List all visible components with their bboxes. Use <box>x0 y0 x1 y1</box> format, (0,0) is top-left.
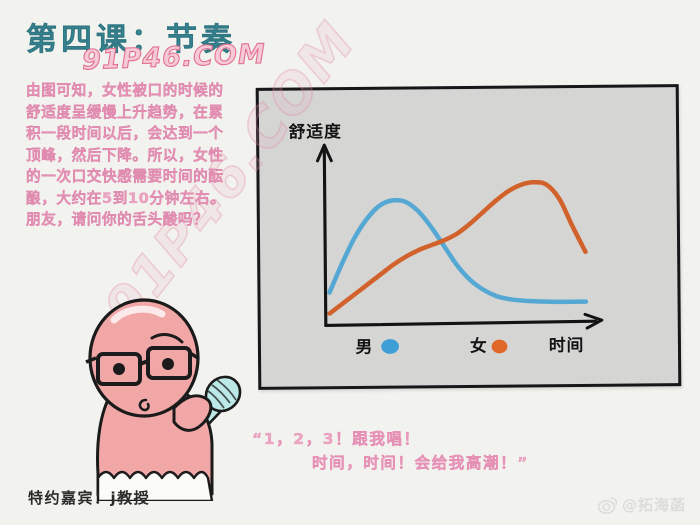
legend-dot-male <box>381 339 399 354</box>
legend-label-male: 男 <box>356 337 373 357</box>
y-axis <box>317 145 332 325</box>
character-eye-right <box>162 358 174 370</box>
quote-line-1: “1，2，3！跟我唱！ <box>252 427 529 451</box>
watermark-url-top: 91P46.COM <box>82 39 267 76</box>
body-paragraph: 由图可知，女性被口的时候的舒适度呈缓慢上升趋势，在累积一段时间以后，会达到一个顶… <box>26 80 226 231</box>
legend-label-female: 女 <box>470 336 487 356</box>
comfort-vs-time-line-chart: 舒适度 男 女 时间 <box>259 87 679 387</box>
weibo-watermark: @拓海菡 <box>598 494 686 515</box>
weibo-logo-icon <box>598 496 618 514</box>
professor-j-cartoon <box>62 296 277 501</box>
chart-legend: 男 女 <box>356 335 508 356</box>
series-line-male <box>329 198 586 303</box>
series-line-female <box>329 182 586 314</box>
character-eye-left <box>113 363 125 375</box>
guest-caption: 特约嘉宾：j教授 <box>28 487 150 508</box>
quote-block: “1，2，3！跟我唱！ 时间，时间！会给我高潮！” <box>252 427 529 475</box>
comic-page: 第四课：节奏 91P46.COM 由图可知，女性被口的时候的舒适度呈缓慢上升趋势… <box>0 0 700 525</box>
x-axis-label: 时间 <box>549 335 585 355</box>
character-head <box>90 300 198 416</box>
chart-board: 舒适度 男 女 时间 <box>256 84 682 390</box>
legend-dot-female <box>492 340 508 354</box>
weibo-handle: @拓海菡 <box>622 494 686 515</box>
quote-line-2: 时间，时间！会给我高潮！” <box>252 451 529 475</box>
x-axis <box>326 314 602 330</box>
y-axis-label: 舒适度 <box>289 121 342 141</box>
